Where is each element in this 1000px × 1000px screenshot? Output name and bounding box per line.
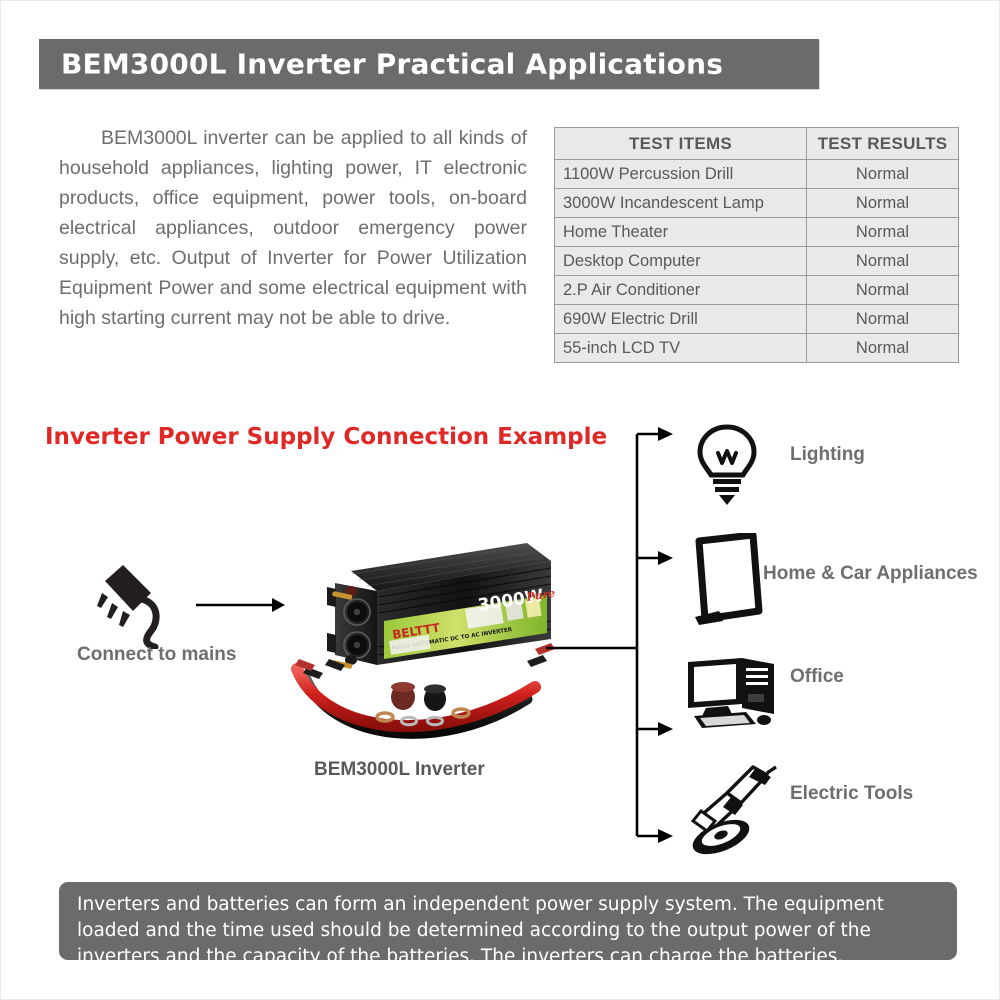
lightbulb-icon [694,423,760,509]
cell-test-item: 55-inch LCD TV [555,334,807,363]
output-label-electric-tools: Electric Tools [790,783,913,805]
output-label-lighting: Lighting [790,444,865,466]
output-label-appliances: Home & Car Appliances [763,563,978,585]
table-header-row: TEST ITEMS TEST RESULTS [555,128,959,160]
header-bar: BEM3000L Inverter Practical Applications [39,39,819,89]
cell-test-item: Desktop Computer [555,247,807,276]
column-header-test-items: TEST ITEMS [555,128,807,160]
cell-test-result: Normal [807,218,959,247]
inverter-product-photo: BELTTT FULLY AUTOMATIC DC TO AC INVERTER… [289,529,559,754]
angle-grinder-icon [681,763,777,855]
table-row: 1100W Percussion Drill Normal [555,160,959,189]
cell-test-item: 3000W Incandescent Lamp [555,189,807,218]
column-header-test-results: TEST RESULTS [807,128,959,160]
television-icon [689,533,765,625]
table-row: 3000W Incandescent Lamp Normal [555,189,959,218]
test-results-table: TEST ITEMS TEST RESULTS 1100W Percussion… [554,127,959,363]
power-plug-icon [93,559,203,649]
table-row: 2.P Air Conditioner Normal [555,276,959,305]
footer-banner: Inverters and batteries can form an inde… [59,882,957,960]
cell-test-item: 690W Electric Drill [555,305,807,334]
table-row: 55-inch LCD TV Normal [555,334,959,363]
table-row: 690W Electric Drill Normal [555,305,959,334]
cell-test-result: Normal [807,305,959,334]
branch-connector-lines [546,416,676,846]
cell-test-item: Home Theater [555,218,807,247]
connect-to-mains-label: Connect to mains [77,644,236,666]
intro-paragraph: BEM3000L inverter can be applied to all … [59,123,527,333]
inverter-caption: BEM3000L Inverter [314,759,485,781]
table-row: Home Theater Normal [555,218,959,247]
output-label-office: Office [790,666,844,688]
table-row: Desktop Computer Normal [555,247,959,276]
cell-test-result: Normal [807,247,959,276]
cell-test-item: 2.P Air Conditioner [555,276,807,305]
cell-test-result: Normal [807,276,959,305]
cell-test-result: Normal [807,334,959,363]
page-title: BEM3000L Inverter Practical Applications [61,48,723,81]
cell-test-item: 1100W Percussion Drill [555,160,807,189]
cell-test-result: Normal [807,189,959,218]
cell-test-result: Normal [807,160,959,189]
infographic-page: BEM3000L Inverter Practical Applications… [0,0,1000,1000]
desktop-computer-icon [684,654,780,732]
footer-text: Inverters and batteries can form an inde… [77,892,939,970]
arrow-to-inverter-icon [196,595,286,615]
